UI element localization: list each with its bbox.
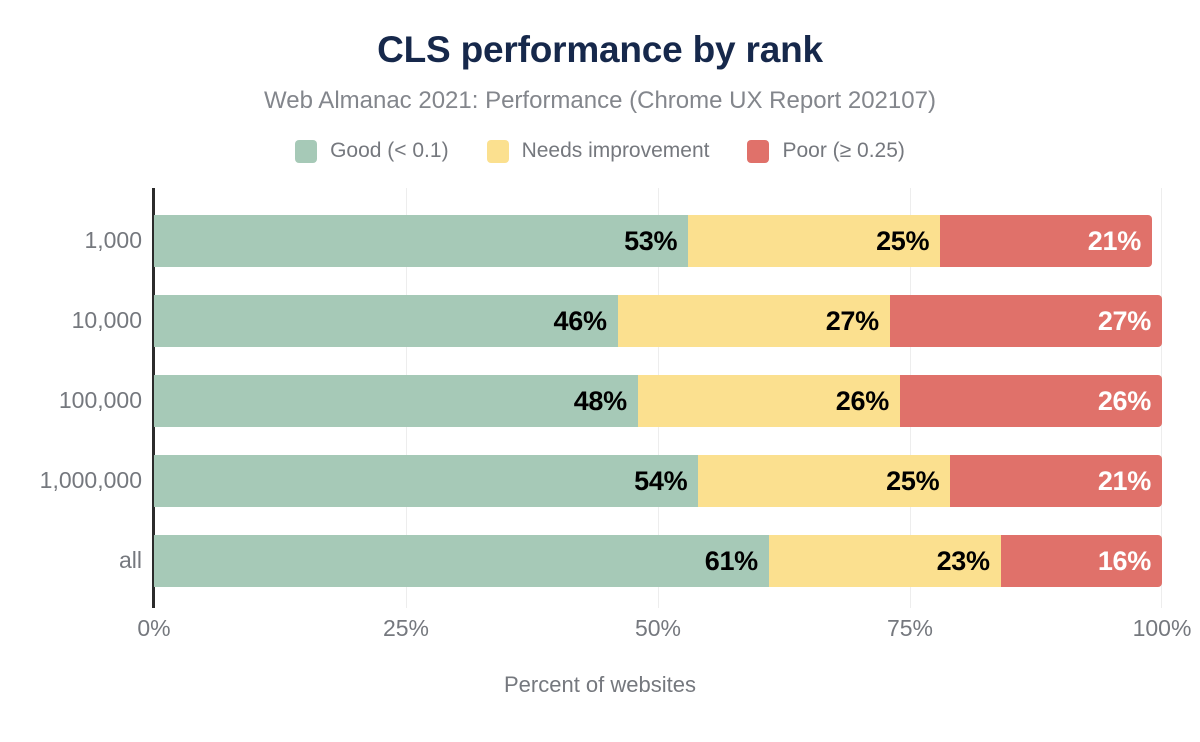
bar-segment-good[interactable]: 53% (154, 215, 688, 267)
bar-row: 48%26%26% (154, 375, 1162, 427)
y-axis-tick-label: 1,000 (0, 227, 142, 254)
y-axis-tick-label: all (0, 547, 142, 574)
bar-segment-poor[interactable]: 16% (1001, 535, 1162, 587)
plot-area: 53%25%21%46%27%27%48%26%26%54%25%21%61%2… (154, 188, 1162, 608)
y-axis-tick-label: 100,000 (0, 387, 142, 414)
bar-segment-label: 54% (634, 466, 698, 497)
legend-label-good: Good (< 0.1) (330, 139, 448, 163)
x-axis-tick-label: 50% (578, 615, 738, 642)
bar-segment-label: 16% (1098, 546, 1162, 577)
bar-rows: 53%25%21%46%27%27%48%26%26%54%25%21%61%2… (154, 188, 1162, 608)
legend-swatch-needs-improvement-icon (487, 140, 509, 163)
bar-segment-good[interactable]: 48% (154, 375, 638, 427)
bar-segment-label: 25% (886, 466, 950, 497)
bar-segment-label: 26% (1098, 386, 1162, 417)
x-axis-label: Percent of websites (0, 672, 1200, 698)
bar-segment-label: 27% (1098, 306, 1162, 337)
bar-segment-poor[interactable]: 26% (900, 375, 1162, 427)
bar-row: 54%25%21% (154, 455, 1162, 507)
x-axis-tick-label: 0% (74, 615, 234, 642)
bar-segment-label: 53% (624, 226, 688, 257)
bar-segment-poor[interactable]: 21% (950, 455, 1162, 507)
legend-item-poor[interactable]: Poor (≥ 0.25) (747, 139, 904, 163)
legend-swatch-poor-icon (747, 140, 769, 163)
bar-segment-label: 26% (836, 386, 900, 417)
bar-segment-good[interactable]: 46% (154, 295, 618, 347)
bar-row: 61%23%16% (154, 535, 1162, 587)
x-axis-tick-label: 100% (1082, 615, 1200, 642)
chart-legend: Good (< 0.1) Needs improvement Poor (≥ 0… (0, 139, 1200, 163)
x-axis-tick-label: 75% (830, 615, 990, 642)
chart-subtitle: Web Almanac 2021: Performance (Chrome UX… (0, 88, 1200, 114)
chart-container: CLS performance by rank Web Almanac 2021… (0, 0, 1200, 742)
bar-segment-needs-improvement[interactable]: 26% (638, 375, 900, 427)
legend-swatch-good-icon (295, 140, 317, 163)
x-axis-tick-label: 25% (326, 615, 486, 642)
bar-segment-poor[interactable]: 21% (940, 215, 1152, 267)
bar-segment-label: 25% (876, 226, 940, 257)
y-axis-tick-label: 10,000 (0, 307, 142, 334)
bar-row: 53%25%21% (154, 215, 1162, 267)
bar-segment-needs-improvement[interactable]: 25% (698, 455, 950, 507)
bar-segment-poor[interactable]: 27% (890, 295, 1162, 347)
legend-item-needs-improvement[interactable]: Needs improvement (487, 139, 710, 163)
chart-title: CLS performance by rank (0, 30, 1200, 70)
bar-segment-good[interactable]: 61% (154, 535, 769, 587)
legend-label-needs-improvement: Needs improvement (522, 139, 710, 163)
bar-segment-needs-improvement[interactable]: 23% (769, 535, 1001, 587)
bar-segment-needs-improvement[interactable]: 27% (618, 295, 890, 347)
bar-segment-label: 48% (574, 386, 638, 417)
bar-row: 46%27%27% (154, 295, 1162, 347)
y-axis-tick-label: 1,000,000 (0, 467, 142, 494)
bar-segment-label: 27% (826, 306, 890, 337)
bar-segment-label: 21% (1098, 466, 1162, 497)
bar-segment-needs-improvement[interactable]: 25% (688, 215, 940, 267)
bar-segment-label: 21% (1088, 226, 1152, 257)
bar-segment-good[interactable]: 54% (154, 455, 698, 507)
bar-segment-label: 23% (937, 546, 1001, 577)
bar-segment-label: 46% (554, 306, 618, 337)
bar-segment-label: 61% (705, 546, 769, 577)
legend-label-poor: Poor (≥ 0.25) (782, 139, 904, 163)
legend-item-good[interactable]: Good (< 0.1) (295, 139, 448, 163)
